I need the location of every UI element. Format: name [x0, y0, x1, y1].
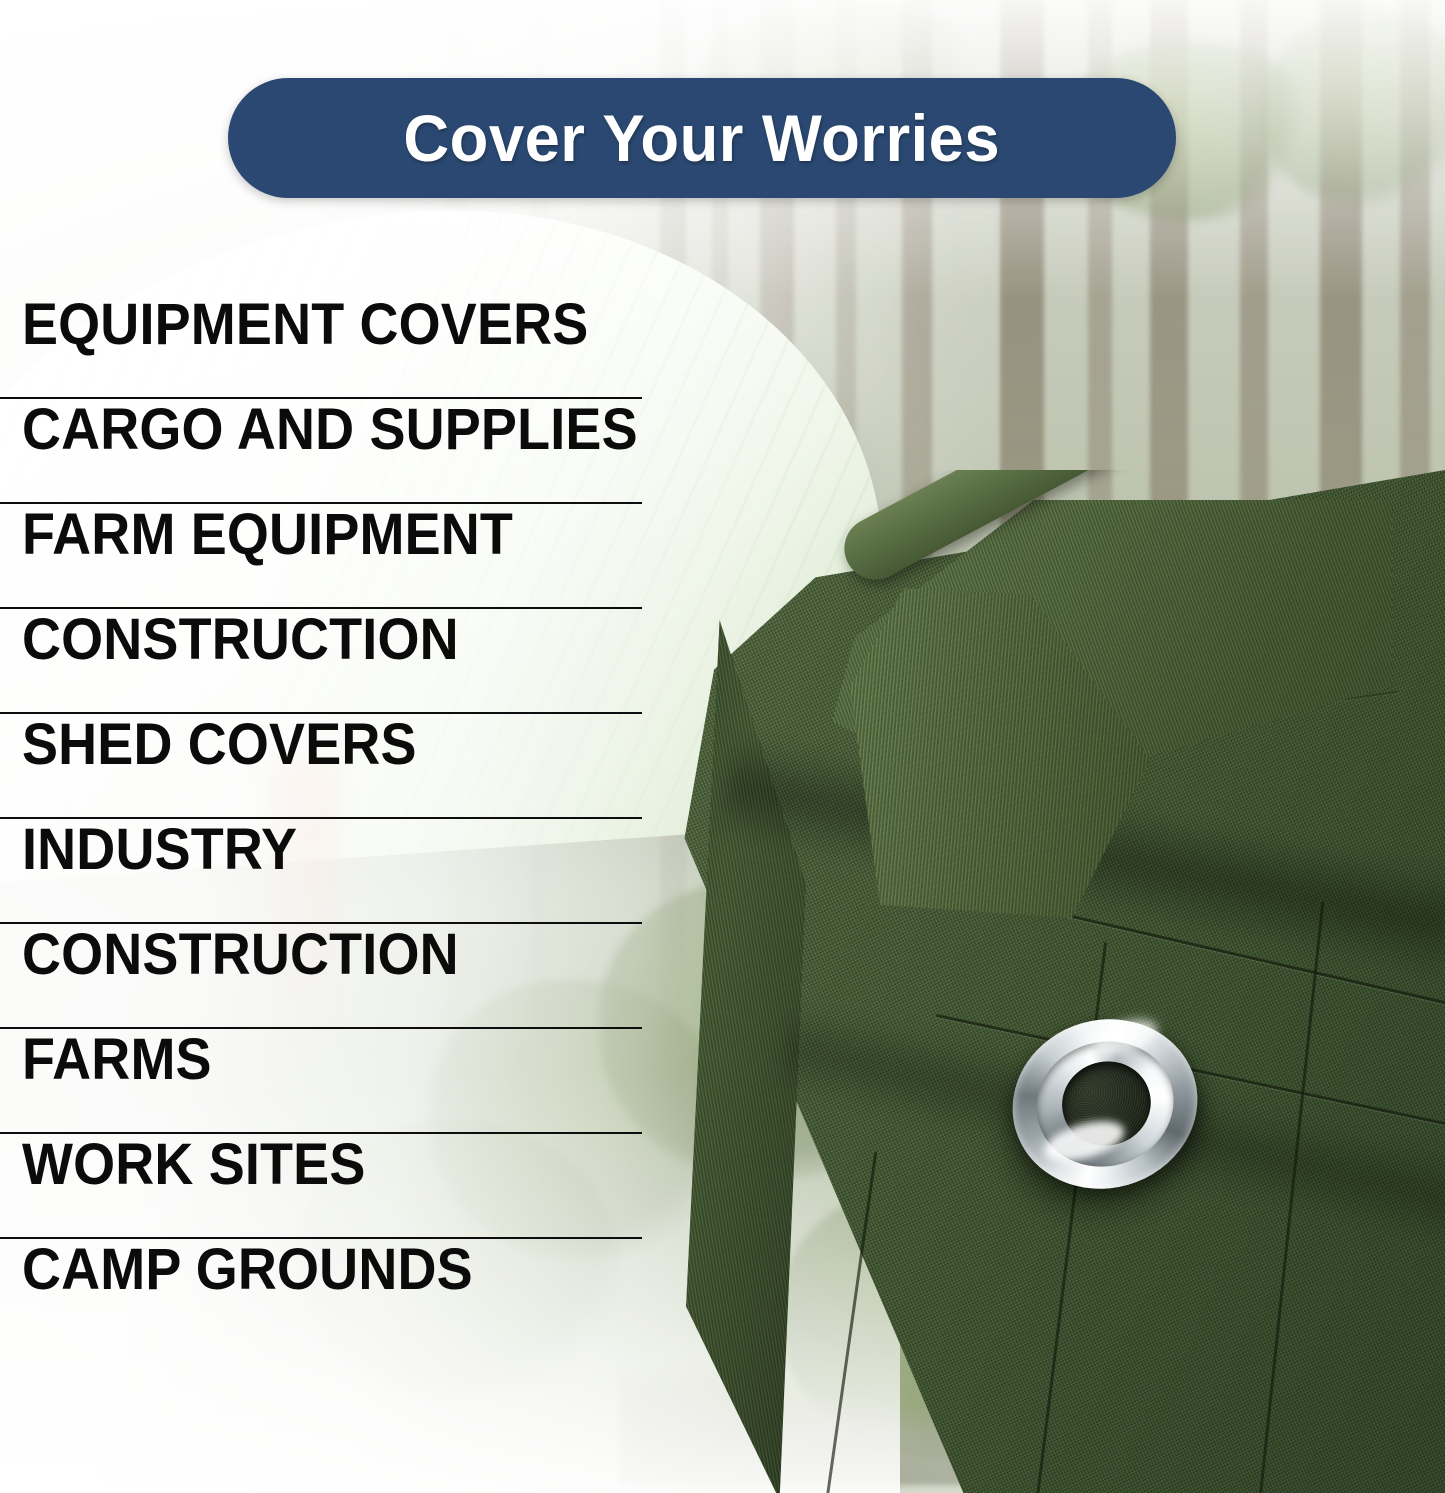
- list-item-label: FARM EQUIPMENT: [22, 504, 513, 566]
- list-item-label: EQUIPMENT COVERS: [22, 294, 588, 356]
- list-item-label: INDUSTRY: [22, 819, 297, 881]
- list-item-label: CAMP GROUNDS: [22, 1239, 473, 1301]
- list-item: CAMP GROUNDS: [0, 1239, 700, 1344]
- list-item-label: FARMS: [22, 1029, 212, 1091]
- list-item: FARMS: [0, 1029, 700, 1134]
- list-item-label: CONSTRUCTION: [22, 609, 459, 671]
- list-item: WORK SITES: [0, 1134, 700, 1239]
- list-item: CONSTRUCTION: [0, 924, 700, 1029]
- page-title: Cover Your Worries: [404, 100, 1001, 176]
- list-item: INDUSTRY: [0, 819, 700, 924]
- list-item: FARM EQUIPMENT: [0, 504, 700, 609]
- list-item: EQUIPMENT COVERS: [0, 294, 700, 399]
- list-item-label: CONSTRUCTION: [22, 924, 459, 986]
- list-item-label: WORK SITES: [22, 1134, 365, 1196]
- title-banner: Cover Your Worries: [228, 78, 1176, 198]
- green-canvas-tarp: [600, 470, 1445, 1493]
- use-case-list: EQUIPMENT COVERSCARGO AND SUPPLIESFARM E…: [0, 294, 700, 1344]
- product-feature-poster: Cover Your Worries EQUIPMENT COVERSCARGO…: [0, 0, 1445, 1493]
- list-item-label: CARGO AND SUPPLIES: [22, 399, 638, 461]
- list-item: SHED COVERS: [0, 714, 700, 819]
- list-item: CARGO AND SUPPLIES: [0, 399, 700, 504]
- list-item: CONSTRUCTION: [0, 609, 700, 714]
- list-item-label: SHED COVERS: [22, 714, 417, 776]
